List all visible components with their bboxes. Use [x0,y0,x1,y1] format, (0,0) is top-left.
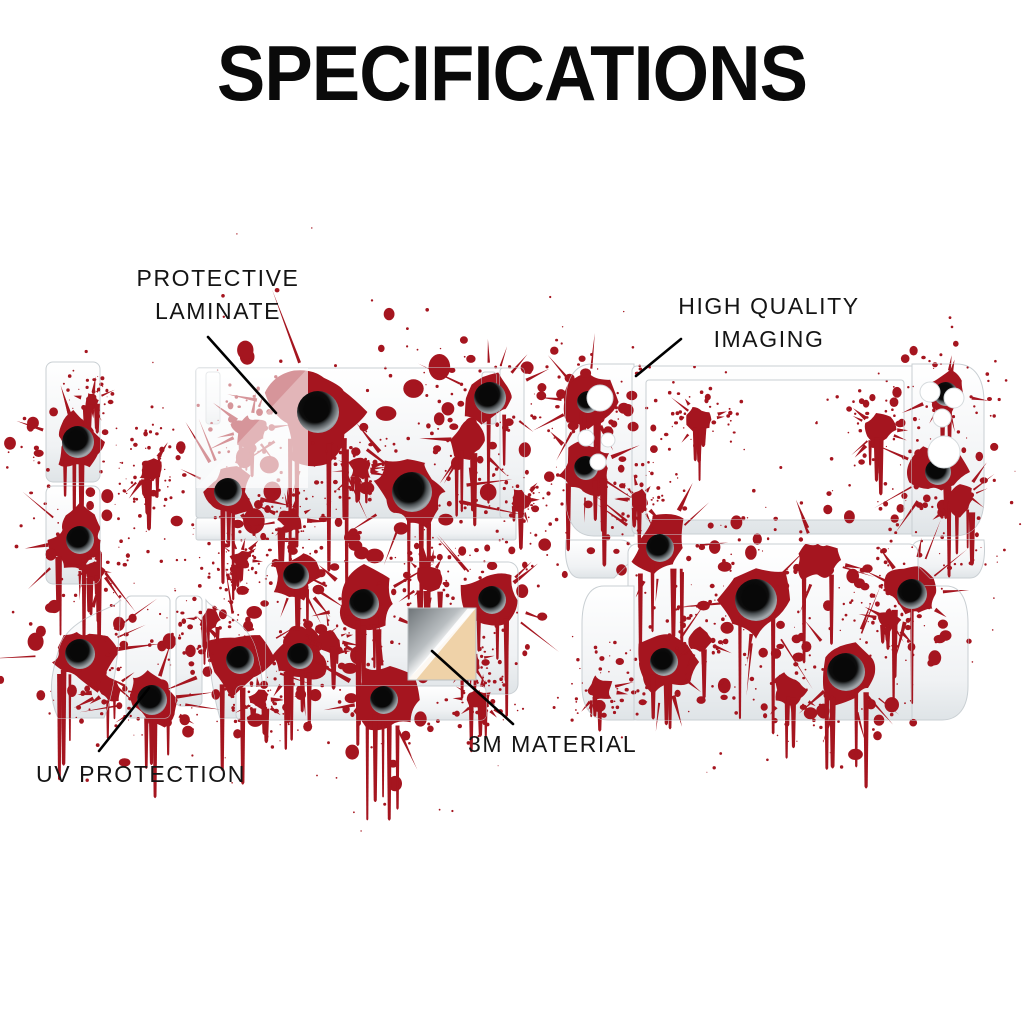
bullet-hole [349,589,379,619]
3m-material-swatch [408,608,476,680]
button-cutout [578,430,594,446]
bullet-hole [897,579,927,609]
bullet-hole [65,639,95,669]
bullet-hole [650,648,678,676]
callout-protective-laminate: PROTECTIVE LAMINATE [98,262,338,328]
button-cutout [587,385,613,411]
bullet-hole [735,579,777,621]
bullet-hole [646,534,674,562]
bullet-hole [474,382,506,414]
bullet-hole [370,686,398,714]
button-cutout [920,382,940,402]
bullet-hole [226,646,254,674]
specifications-page: SPECIFICATIONS PROTECTIVE LAMINATE HIGH … [0,0,1024,1024]
bullet-hole [478,586,506,614]
button-cutout [928,436,960,468]
bullet-hole [137,685,167,715]
bullet-hole [66,526,94,554]
button-cutout [601,433,615,447]
bullet-hole [392,472,432,512]
button-cutout [590,454,606,470]
bullet-hole [287,643,313,669]
button-cutout [944,388,964,408]
bullet-hole [827,653,865,691]
callout-3m-material: 3M MATERIAL [468,728,698,761]
skin-artwork [0,0,1024,1024]
bullet-hole [283,563,309,589]
button-cutout [933,409,951,427]
callout-uv-protection: UV PROTECTION [36,758,286,791]
bullet-hole [62,426,94,458]
bullet-hole [297,391,339,433]
bullet-hole [214,478,242,506]
callout-high-quality-imaging: HIGH QUALITY IMAGING [640,290,898,356]
